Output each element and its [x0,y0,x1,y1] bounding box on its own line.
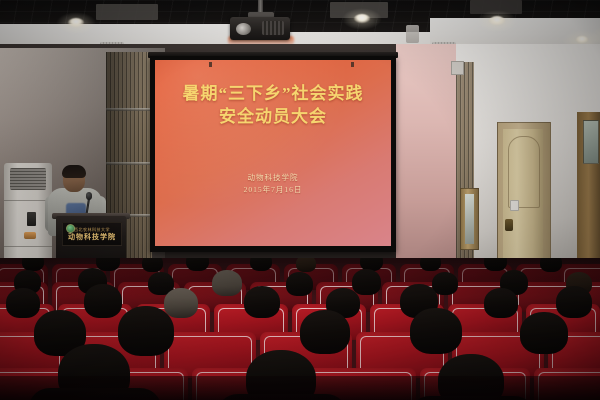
audience-head [556,286,592,318]
slide-title: 暑期“三下乡”社会实践 安全动员大会 [183,82,364,128]
audience-head [300,310,350,354]
slide-content: 暑期“三下乡”社会实践 安全动员大会 动物科技学院 2015年7月16日 [155,60,391,246]
audience-head [250,258,272,271]
audience-head [520,312,568,354]
audience-head [410,308,462,354]
audience-head [484,288,518,318]
projector-lens-icon [236,23,251,35]
right-wall-accent-column [396,44,456,266]
ceiling-downlight [576,36,588,43]
audience-head [484,258,507,271]
wall-control-plate [451,61,464,75]
wall-frame-glass [465,194,474,244]
audience-head [286,272,313,296]
foreground-shadow [0,376,600,400]
ceiling-downlight [489,16,505,25]
university-crest-icon [66,224,75,233]
audience-head [164,288,198,318]
rear-door-window [583,120,599,164]
audience-head [118,306,174,356]
ceiling-downlight [68,18,84,27]
microphone-icon [86,192,92,200]
audience-head [420,258,441,271]
slide-subtitle: 动物科技学院 2015年7月16日 [244,172,303,196]
speaker-hair [62,165,86,178]
audience-head [142,258,163,272]
ceiling-recess [96,4,158,20]
audience-head [296,258,316,272]
audience-head [84,284,122,318]
podium-university-name: 西北农林科技大学 [74,227,110,232]
audience-head [6,288,40,318]
door-panel-molding [508,136,540,208]
podium-college-name: 动物科技学院 [68,233,116,242]
ceiling-downlight [354,14,370,23]
air-conditioner-badge [24,232,36,239]
audience-head [186,258,209,271]
air-conditioner-display[interactable] [27,212,36,226]
wall-frame [460,188,479,250]
audience-head [540,258,562,272]
audience-head [244,286,280,318]
audience-head [432,272,458,295]
projector-vent-icon [262,21,284,35]
projection-screen: 暑期“三下乡”社会实践 安全动员大会 动物科技学院 2015年7月16日 [155,60,391,246]
audience-head [212,270,242,296]
wall-outlet [510,200,519,211]
air-conditioner-vent-icon [10,168,46,190]
ceiling-speaker [406,25,419,43]
audience-head [352,269,381,295]
door-handle-icon[interactable] [505,219,513,231]
auditorium-photo: 暑期“三下乡”社会实践 安全动员大会 动物科技学院 2015年7月16日 西北农… [0,0,600,400]
air-conditioner-seam [4,246,52,247]
